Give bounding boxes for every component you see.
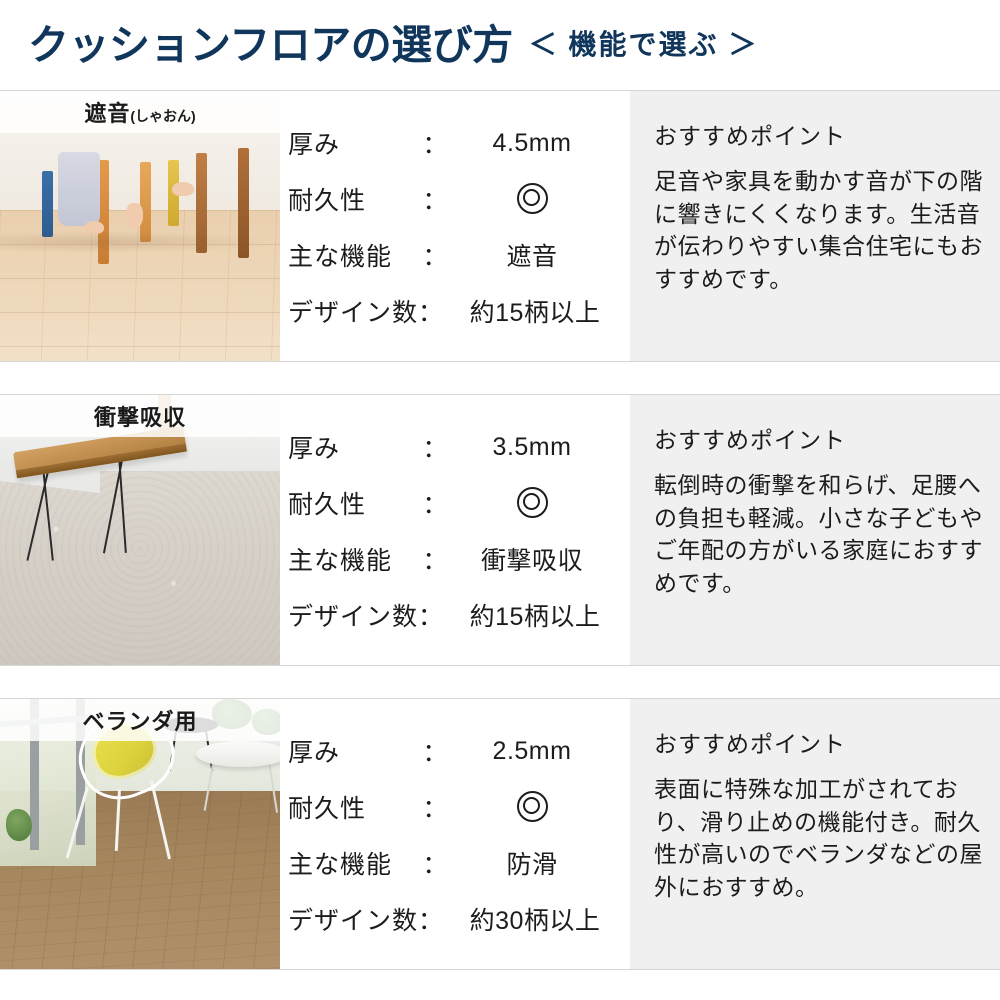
feature-card-shaon[interactable]: 遮音(しゃおん) 厚み ： 4.5mm 耐久性 ： 主な機能 ： 遮音 デザイン… (0, 90, 1000, 362)
spec-label-thickness: 厚み (288, 429, 418, 465)
spec-value-design-count: 約15柄以上 (458, 597, 612, 633)
spec-value-thickness: 3.5mm (452, 433, 612, 462)
card-label-text: 遮音(しゃおん) (84, 96, 195, 128)
spec-value-durability (452, 183, 612, 216)
feature-card-list: 遮音(しゃおん) 厚み ： 4.5mm 耐久性 ： 主な機能 ： 遮音 デザイン… (0, 90, 1000, 970)
double-circle-rating-icon (517, 487, 548, 518)
spec-value-function: 遮音 (452, 237, 612, 273)
card-label-band: 遮音(しゃおん) (0, 91, 280, 133)
card-label-ruby: (しゃおん) (130, 108, 195, 124)
recommend-body: 足音や家具を動かす音が下の階に響きにくくなります。生活音が伝わりやすい集合住宅に… (654, 165, 984, 296)
recommend-heading: おすすめポイント (654, 421, 984, 455)
spec-value-function: 衝撃吸収 (452, 541, 612, 577)
spec-label-design-count: デザイン数： (288, 597, 458, 633)
spec-row-durability: 耐久性 ： (288, 475, 612, 531)
spec-value-function: 防滑 (452, 845, 612, 881)
spec-value-design-count: 約30柄以上 (458, 901, 612, 937)
spec-row-thickness: 厚み ： 2.5mm (288, 723, 612, 779)
spec-row-thickness: 厚み ： 4.5mm (288, 115, 612, 171)
spec-label-thickness: 厚み (288, 733, 418, 769)
recommend-heading: おすすめポイント (654, 117, 984, 151)
spec-colon: ： (418, 845, 452, 881)
spec-colon: ： (418, 541, 452, 577)
spec-colon: ： (418, 789, 452, 825)
recommend-heading: おすすめポイント (654, 725, 984, 759)
spec-label-thickness: 厚み (288, 125, 418, 161)
spec-value-durability (452, 791, 612, 824)
spec-label-durability: 耐久性 (288, 789, 418, 825)
spec-row-function: 主な機能 ： 衝撃吸収 (288, 531, 612, 587)
card-label-band: ベランダ用 (0, 699, 280, 741)
recommend-body: 表面に特殊な加工がされており、滑り止めの機能付き。耐久性が高いのでベランダなどの… (654, 773, 984, 904)
spec-row-design-count: デザイン数： 約15柄以上 (288, 587, 612, 643)
spec-label-design-count: デザイン数： (288, 293, 458, 329)
kids-room-light-wood-floor-photo: 遮音(しゃおん) (0, 91, 280, 361)
white-round-table (196, 741, 280, 767)
chair-leg-blue-icon (42, 171, 53, 237)
bench-on-concrete-look-floor-photo: 衝撃吸収 (0, 395, 280, 665)
page-header: クッションフロアの選び方 ＜ 機能で選ぶ ＞ (0, 0, 1000, 90)
recommend-panel: おすすめポイント 表面に特殊な加工がされており、滑り止めの機能付き。耐久性が高い… (630, 699, 1000, 969)
double-circle-rating-icon (517, 183, 548, 214)
spec-row-design-count: デザイン数： 約15柄以上 (288, 283, 612, 339)
floor-shadow (0, 231, 280, 253)
card-label-text: 衝撃吸収 (94, 400, 186, 432)
spec-row-function: 主な機能 ： 遮音 (288, 227, 612, 283)
page-subtitle: ＜ 機能で選ぶ ＞ (529, 31, 759, 59)
double-circle-rating-icon (517, 791, 548, 822)
spec-label-function: 主な機能 (288, 845, 418, 881)
spec-colon: ： (418, 181, 452, 217)
card-label-band: 衝撃吸収 (0, 395, 280, 437)
spec-value-durability (452, 487, 612, 520)
spec-table: 厚み ： 4.5mm 耐久性 ： 主な機能 ： 遮音 デザイン数： 約15柄以上 (280, 91, 630, 361)
spec-colon: ： (418, 733, 452, 769)
page-title: クッションフロアの選び方 (28, 25, 513, 66)
child-pants (58, 152, 100, 226)
spec-row-thickness: 厚み ： 3.5mm (288, 419, 612, 475)
bare-foot-icon (172, 182, 194, 196)
spec-row-function: 主な機能 ： 防滑 (288, 835, 612, 891)
spec-label-function: 主な機能 (288, 237, 418, 273)
spec-colon: ： (418, 429, 452, 465)
spec-colon: ： (418, 485, 452, 521)
spec-label-durability: 耐久性 (288, 485, 418, 521)
recommend-body: 転倒時の衝撃を和らげ、足腰への負担も軽減。小さな子どもやご年配の方がいる家庭にお… (654, 469, 984, 600)
balcony-wood-deck-photo: ベランダ用 (0, 699, 280, 969)
spec-row-durability: 耐久性 ： (288, 779, 612, 835)
spec-value-design-count: 約15柄以上 (458, 293, 612, 329)
spec-colon: ： (418, 237, 452, 273)
bare-foot3-icon (126, 203, 143, 229)
plant-icon (6, 809, 32, 841)
spec-value-thickness: 2.5mm (452, 737, 612, 766)
spec-table: 厚み ： 3.5mm 耐久性 ： 主な機能 ： 衝撃吸収 デザイン数： 約15柄… (280, 395, 630, 665)
feature-card-veranda[interactable]: ベランダ用 厚み ： 2.5mm 耐久性 ： 主な機能 ： 防滑 デザイン数： … (0, 698, 1000, 970)
spec-row-durability: 耐久性 ： (288, 171, 612, 227)
spec-row-design-count: デザイン数： 約30柄以上 (288, 891, 612, 947)
spec-label-durability: 耐久性 (288, 181, 418, 217)
spec-colon: ： (418, 125, 452, 161)
recommend-panel: おすすめポイント 足音や家具を動かす音が下の階に響きにくくなります。生活音が伝わ… (630, 91, 1000, 361)
spec-label-design-count: デザイン数： (288, 901, 458, 937)
recommend-panel: おすすめポイント 転倒時の衝撃を和らげ、足腰への負担も軽減。小さな子どもやご年配… (630, 395, 1000, 665)
feature-card-shock-absorption[interactable]: 衝撃吸収 厚み ： 3.5mm 耐久性 ： 主な機能 ： 衝撃吸収 デザイン数：… (0, 394, 1000, 666)
spec-table: 厚み ： 2.5mm 耐久性 ： 主な機能 ： 防滑 デザイン数： 約30柄以上 (280, 699, 630, 969)
card-label-text: ベランダ用 (82, 704, 197, 736)
spec-value-thickness: 4.5mm (452, 129, 612, 158)
spec-label-function: 主な機能 (288, 541, 418, 577)
